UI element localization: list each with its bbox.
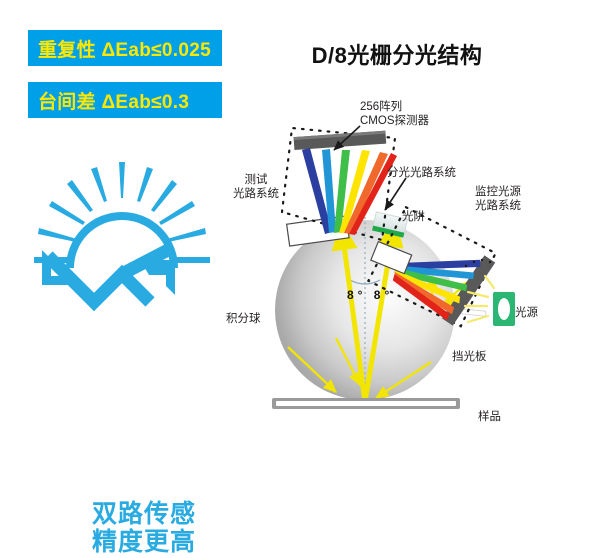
optical-diagram-svg <box>210 80 600 450</box>
sun-with-arrow-icon <box>22 150 222 350</box>
label-splitting-optical-path: 分光光路系统 <box>387 166 456 180</box>
badge-repeatability-text: 重复性 ΔEab≤0.025 <box>38 35 211 62</box>
label-test-optical-path: 测试 光路系统 <box>226 173 286 201</box>
badge-repeatability: 重复性 ΔEab≤0.025 <box>28 30 222 66</box>
label-light-source: 光源 <box>515 306 538 320</box>
poster-canvas: 重复性 ΔEab≤0.025 台间差 ΔEab≤0.3 D/8光栅分光结构 <box>0 0 600 450</box>
label-baffle: 挡光板 <box>452 350 487 364</box>
label-angles: 8° 8° <box>347 288 393 302</box>
label-sample: 样品 <box>478 410 501 424</box>
page-title: D/8光栅分光结构 <box>262 38 532 70</box>
label-integrating-sphere: 积分球 <box>226 312 261 326</box>
optical-diagram: 256阵列 CMOS探测器 测试 光路系统 分光光路系统 光阱 监控光源 光路系… <box>210 80 600 450</box>
label-monitor-light-source: 监控光源 光路系统 <box>475 185 521 213</box>
badge-inter-instrument: 台间差 ΔEab≤0.3 <box>28 82 222 118</box>
brand-graphic: 双路传感 精度更高 <box>22 150 222 405</box>
label-light-trap: 光阱 <box>402 210 425 224</box>
sample-stage <box>272 398 460 409</box>
badge-inter-instrument-text: 台间差 ΔEab≤0.3 <box>38 87 189 114</box>
label-cmos-detector: 256阵列 CMOS探测器 <box>360 100 429 128</box>
brand-line-2: 精度更高 <box>44 522 244 558</box>
